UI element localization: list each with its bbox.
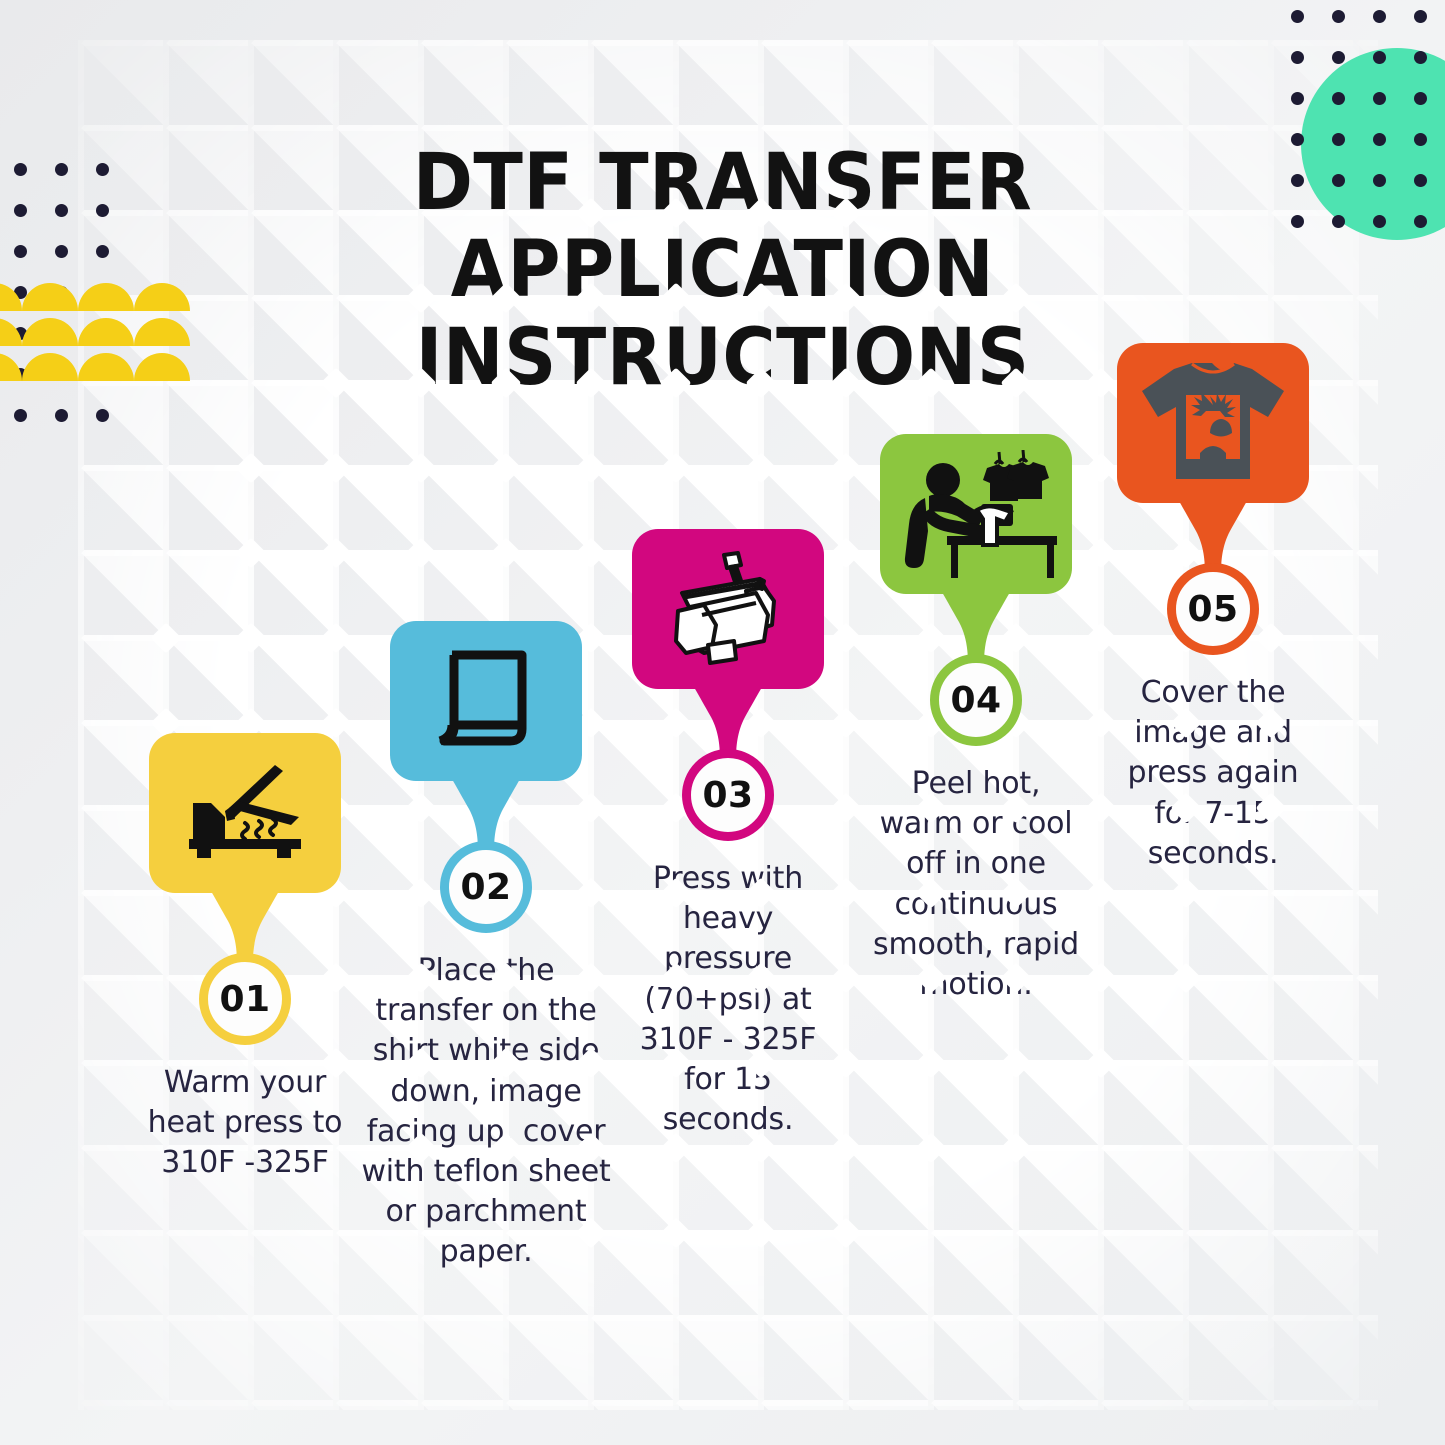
step-number: 05 xyxy=(1187,589,1238,630)
decorative-dot xyxy=(1414,174,1427,187)
step-05-number-badge: 05 xyxy=(1167,563,1259,655)
decorative-dot xyxy=(1414,51,1427,64)
decorative-dot xyxy=(1291,10,1304,23)
step-01-icon-card xyxy=(149,733,341,893)
half-disc-shape xyxy=(0,353,22,381)
step-02-icon-card xyxy=(390,621,582,781)
decorative-dot xyxy=(1373,10,1386,23)
half-disc-shape xyxy=(0,318,22,346)
decorative-dot xyxy=(96,409,109,422)
step-03-icon-card xyxy=(632,529,824,689)
step-04-number-badge: 04 xyxy=(930,654,1022,746)
decorative-dot xyxy=(1373,51,1386,64)
step-01-number-badge: 01 xyxy=(199,953,291,1045)
step-number: 02 xyxy=(460,867,511,908)
decorative-dot xyxy=(14,409,27,422)
decorative-dot xyxy=(1373,92,1386,105)
transfer-sheet-icon xyxy=(430,647,542,755)
decorative-dot xyxy=(1332,51,1345,64)
decorative-dot xyxy=(55,409,68,422)
step-card-05: 05 Cover the image and press again for 7… xyxy=(1082,343,1344,874)
step-05-description: Cover the image and press again for 7-15… xyxy=(1107,673,1319,874)
peeling-transfer-person-icon xyxy=(895,450,1057,578)
decorative-dot xyxy=(1332,10,1345,23)
step-card-04: 04 Peel hot, warm or cool off in one con… xyxy=(845,434,1107,1005)
step-card-03: 03 Press with heavy pressure (70+psi) at… xyxy=(597,529,859,1140)
printed-tshirt-icon xyxy=(1138,357,1288,489)
infographic-poster: DTF TRANSFER APPLICATION INSTRUCTIONS xyxy=(0,0,1445,1445)
step-04-icon-card xyxy=(880,434,1072,594)
step-05-icon-card xyxy=(1117,343,1309,503)
step-03-number-badge: 03 xyxy=(682,749,774,841)
decorative-dot xyxy=(1291,92,1304,105)
step-02-number-badge: 02 xyxy=(440,841,532,933)
step-01-description: Warm your heat press to 310F -325F xyxy=(127,1063,363,1184)
heat-press-open-icon xyxy=(179,761,311,865)
decorative-dot xyxy=(1414,92,1427,105)
decorative-dot xyxy=(1414,215,1427,228)
decorative-dot xyxy=(1291,51,1304,64)
decorative-dot xyxy=(1414,133,1427,146)
decorative-dot xyxy=(14,245,27,258)
heat-press-machine-icon xyxy=(664,549,792,669)
decorative-dot xyxy=(14,163,27,176)
half-disc-shape xyxy=(0,283,22,311)
step-02-description: Place the transfer on the shirt white si… xyxy=(357,951,615,1273)
step-03-description: Press with heavy pressure (70+psi) at 31… xyxy=(620,859,836,1140)
step-card-02: 02 Place the transfer on the shirt white… xyxy=(355,621,617,1273)
step-card-01: 01 Warm your heat press to 310F -325F xyxy=(114,733,376,1184)
decorative-dot xyxy=(14,204,27,217)
step-number: 04 xyxy=(950,680,1001,721)
decorative-dot xyxy=(1414,10,1427,23)
step-04-description: Peel hot, warm or cool off in one contin… xyxy=(873,764,1079,1005)
step-number: 03 xyxy=(702,775,753,816)
decorative-dot xyxy=(1332,92,1345,105)
step-number: 01 xyxy=(219,979,270,1020)
